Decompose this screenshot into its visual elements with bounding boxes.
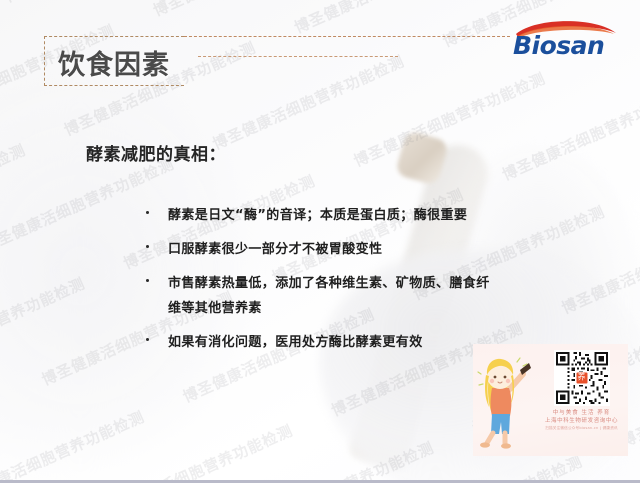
list-item: 口服酵素很少一部分才不被胃酸变性 (146, 237, 546, 262)
page-title: 饮食因素 (58, 43, 170, 82)
qr-zone[interactable]: 养 中与美食 生活 养育 上海中科生物研发咨询中心 扫描关注微信公众号biosa… (535, 344, 628, 456)
promo-caption-line3: 扫描关注微信公众号biosan-cn | 健康资讯 (545, 426, 618, 431)
promo-caption: 中与美食 生活 养育 上海中科生物研发咨询中心 扫描关注微信公众号biosan-… (545, 410, 618, 431)
watermark-text: 博圣健康活细胞营养功能检测 (239, 437, 438, 483)
watermark-text: 博圣健康活细胞营养功能检测 (0, 406, 148, 483)
slide-canvas: 博圣健康活细胞营养功能检测 博圣健康活细胞营养功能检测 博圣健康活细胞营养功能检… (0, 0, 640, 483)
watermark-text: 博圣健康活细胞营养功能检测 (150, 0, 349, 21)
qr-code[interactable]: 养 (554, 350, 610, 406)
watermark-text: 博圣健康活细胞营养功能检测 (350, 67, 549, 171)
bullet-dot-icon (146, 245, 149, 248)
list-item-label: 市售酵素热量低，添加了各种维生素、矿物质、膳食纤维等其他营养素 (168, 271, 498, 321)
watermark-text: 博圣健康活细胞营养功能检测 (558, 215, 640, 319)
biosan-logo-icon: Biosan (510, 16, 622, 58)
watermark-text: 博圣健康活细胞营养功能检测 (499, 81, 640, 185)
bullet-dot-icon (146, 279, 149, 282)
watermark-text: 博圣健康活细胞营养功能检测 (98, 420, 297, 483)
watermark-text: 博圣健康活细胞营养功能检测 (0, 272, 88, 376)
list-item-label: 口服酵素很少一部分才不被胃酸变性 (168, 237, 382, 262)
promo-card[interactable]: 养 中与美食 生活 养育 上海中科生物研发咨询中心 扫描关注微信公众号biosa… (473, 344, 628, 456)
list-item: 酵素是日文“酶”的音译；本质是蛋白质；酶很重要 (146, 203, 546, 228)
watermark-text: 博圣健康活细胞营养功能检测 (291, 0, 490, 38)
bullet-list: 酵素是日文“酶”的音译；本质是蛋白质；酶很重要 口服酵素很少一部分才不被胃酸变性… (146, 203, 546, 364)
watermark-text: 博圣健康活细胞营养功能检测 (209, 50, 408, 154)
promo-caption-line1: 中与美食 生活 养育 (545, 410, 618, 418)
list-item-label: 酵素是日文“酶”的音译；本质是蛋白质；酶很重要 (168, 203, 467, 228)
content-heading: 酵素减肥的真相： (86, 140, 226, 165)
promo-caption-line2: 上海中科生物研发咨询中心 (545, 418, 618, 426)
mascot-illustration (473, 344, 535, 456)
watermark-text: 博圣健康活细胞营养功能检测 (1, 0, 200, 7)
biosan-logo: Biosan (510, 16, 622, 58)
bullet-dot-icon (146, 211, 149, 214)
background-test-tube-cap (395, 130, 450, 186)
list-item-label: 如果有消化问题，医用处方酶比酵素更有效 (168, 330, 423, 355)
list-item: 市售酵素热量低，添加了各种维生素、矿物质、膳食纤维等其他营养素 (146, 271, 546, 321)
qr-center-badge: 养 (575, 372, 588, 385)
title-dashed-line-second (198, 56, 398, 57)
bullet-dot-icon (146, 338, 149, 341)
watermark-text: 博圣健康活细胞营养功能检测 (0, 139, 29, 243)
svg-text:Biosan: Biosan (513, 31, 604, 58)
cartoon-girl-icon (473, 344, 535, 456)
title-dashed-line-top (184, 36, 510, 37)
